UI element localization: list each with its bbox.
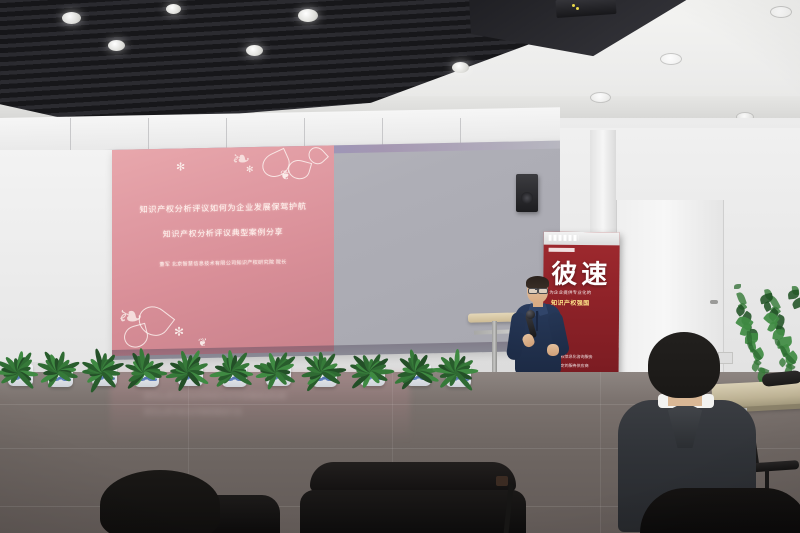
banner-logo-icon <box>549 235 579 241</box>
ceiling-recess-1 <box>660 53 682 65</box>
tree-leaf <box>734 284 741 289</box>
floor-reflection-text: 知识产权分析评议典型案例分享 <box>144 406 242 416</box>
floral-star-top-2: ✻ <box>246 165 254 175</box>
folding-chair-clip <box>496 476 508 486</box>
folding-chair-seat <box>300 490 526 533</box>
glasses-bridge <box>535 289 539 290</box>
ceiling-recess-3 <box>770 6 792 18</box>
plant-11 <box>430 330 482 374</box>
floor-joint-v3 <box>600 372 601 533</box>
indicator-dot-1 <box>572 4 575 7</box>
floral-star-top-1: ✻ <box>176 160 185 173</box>
downlight-6 <box>166 4 181 14</box>
folding-chair-center <box>300 462 530 533</box>
plant-8 <box>296 330 348 374</box>
audience-head-foreground-left <box>100 470 220 533</box>
microphone-icon <box>526 310 535 319</box>
soffit-divider-1 <box>70 118 71 154</box>
glasses-lens-right-icon <box>538 288 548 294</box>
ceiling-recess-2 <box>590 92 611 103</box>
slide-subhead: 知识产权分析评议典型案例分享 <box>112 225 334 241</box>
photo-scene: ❧ ✻ ✻ ❦ 知识产权分析评议如何为企业发展保驾护航 知识产权分析评议典型案例… <box>0 0 800 533</box>
slide-presenter-credit: 董军 北京智慧信息技术有限公司知识产权研究院 院长 <box>112 257 334 269</box>
folding-chair-back <box>310 462 516 492</box>
audience-head <box>648 332 720 398</box>
downlight-5 <box>452 62 469 73</box>
door-handle[interactable] <box>710 300 718 304</box>
plant-row <box>0 330 490 380</box>
banner-logo-underline <box>549 248 575 252</box>
projected-slide: ❧ ✻ ✻ ❦ 知识产权分析评议如何为企业发展保驾护航 知识产权分析评议典型案例… <box>112 145 334 356</box>
downlight-1 <box>62 12 81 24</box>
floral-swirl-top: ❧ <box>232 147 250 172</box>
speaker-cone <box>521 192 533 204</box>
downlight-2 <box>108 40 125 51</box>
slide-headline: 知识产权分析评议如何为企业发展保驾护航 <box>112 199 334 216</box>
downlight-3 <box>246 45 263 56</box>
downlight-4 <box>298 9 318 22</box>
presenter-hand-right <box>547 344 559 356</box>
presenter-shirt-placket <box>536 311 538 331</box>
plant-7 <box>250 330 302 374</box>
indicator-dot-2 <box>576 7 579 10</box>
wall-speaker <box>516 174 538 212</box>
plant-9 <box>344 330 396 374</box>
audience-member-foreground-left <box>40 470 300 533</box>
audience-member-foreground-right <box>640 488 800 533</box>
